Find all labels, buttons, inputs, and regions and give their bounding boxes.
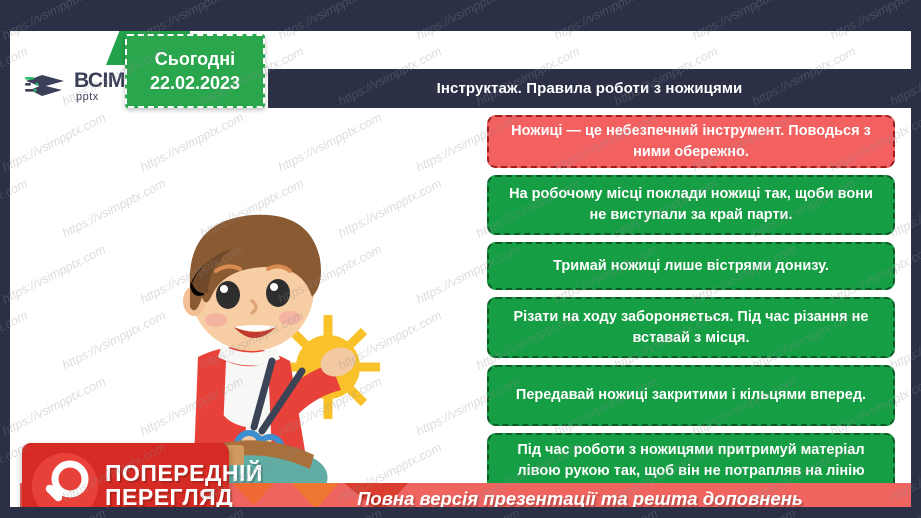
logo-name: ВСІМ bbox=[74, 70, 125, 91]
graduation-cap-icon bbox=[24, 69, 70, 103]
brand-logo: ВСІМ pptx bbox=[24, 64, 136, 108]
rule-item: Тримай ножиці лише вістрями донизу. bbox=[487, 242, 895, 290]
rule-item: Різати на ходу забороняється. Під час рі… bbox=[487, 297, 895, 358]
rule-item: На робочому місці поклади ножиці так, що… bbox=[487, 175, 895, 235]
promo-text: Повна версія презентації та решта доповн… bbox=[250, 487, 910, 507]
preview-badge-line-2: ПЕРЕГЛЯД bbox=[105, 486, 263, 508]
watermark-text: https://vsimpptx.com bbox=[0, 506, 108, 518]
magnifier-icon bbox=[32, 453, 98, 508]
date-badge-value: 22.02.2023 bbox=[150, 71, 240, 95]
date-badge: Сьогодні 22.02.2023 bbox=[125, 34, 265, 108]
watermark-text: https://vsimpptx.com bbox=[414, 506, 522, 518]
date-badge-label: Сьогодні bbox=[155, 47, 235, 71]
watermark-text: https://vsimpptx.com bbox=[828, 506, 921, 518]
watermark-text: https://vsimpptx.com bbox=[690, 506, 798, 518]
promo-line-1: Повна версія презентації та решта доповн… bbox=[250, 487, 910, 507]
watermark-text: https://vsimpptx.com bbox=[138, 506, 246, 518]
watermark-text: https://vsimpptx.com bbox=[552, 506, 660, 518]
preview-badge: ПОПЕРЕДНІЙ ПЕРЕГЛЯД bbox=[22, 443, 229, 507]
preview-badge-line-1: ПОПЕРЕДНІЙ bbox=[105, 462, 263, 485]
slide-content-area: ВСІМ pptx Сьогодні 22.02.2023 Інструктаж… bbox=[10, 31, 911, 507]
slide: ВСІМ pptx Сьогодні 22.02.2023 Інструктаж… bbox=[0, 0, 921, 518]
rule-item: Передавай ножиці закритими і кільцями вп… bbox=[487, 365, 895, 426]
rule-item: Ножиці — це небезпечний інструмент. Пово… bbox=[487, 115, 895, 168]
page-title: Інструктаж. Правила роботи з ножицями bbox=[268, 69, 911, 108]
watermark-text: https://vsimpptx.com bbox=[276, 506, 384, 518]
page-title-text: Інструктаж. Правила роботи з ножицями bbox=[437, 80, 743, 97]
logo-subtitle: pptx bbox=[76, 92, 125, 103]
rules-list: Ножиці — це небезпечний інструмент. Пово… bbox=[487, 115, 895, 507]
